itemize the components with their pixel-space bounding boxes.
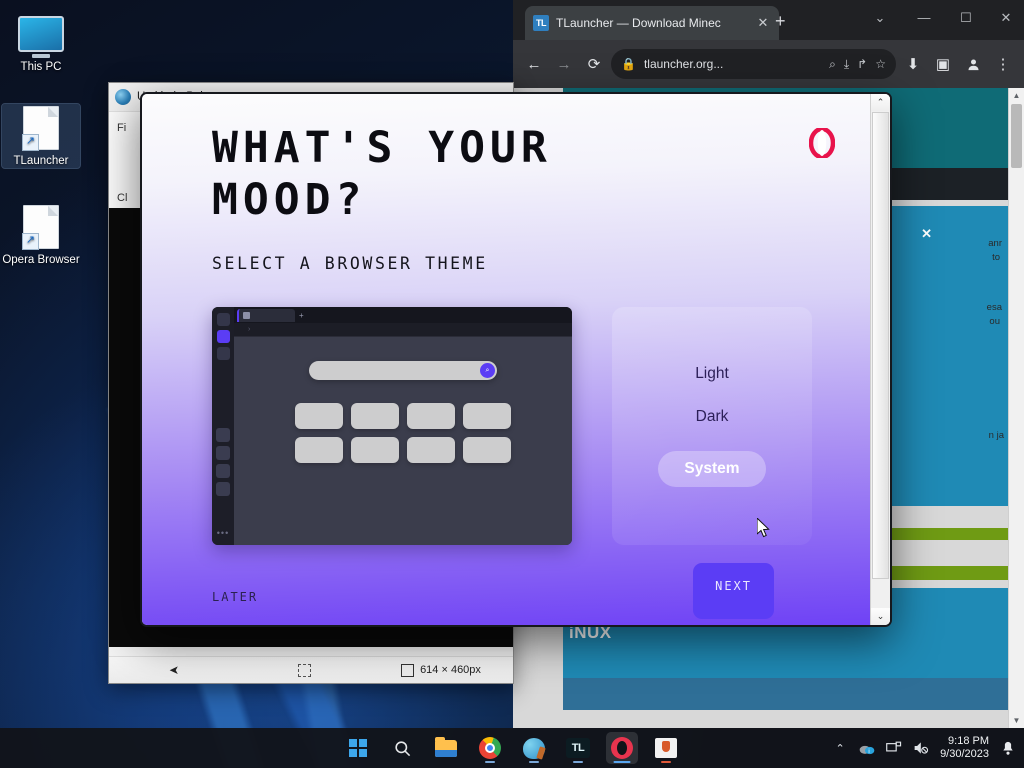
file-shortcut-icon: ↗ [2,203,80,251]
network-icon[interactable] [886,740,902,756]
paint-canvas-size-value: 614 × 460px [420,664,481,676]
minimize-button[interactable]: — [910,8,938,28]
address-bar-url: tlauncher.org... [644,57,821,71]
paint-app-icon [115,89,131,105]
preview-new-tab-icon: + [299,311,304,320]
install-icon[interactable]: ⤓ [844,57,849,72]
notification-bell-icon[interactable] [1000,740,1016,756]
preview-sidebar-icon-active [217,330,230,343]
preview-tiles [295,403,511,463]
speaker-icon [913,741,929,755]
downloads-icon[interactable]: ⬇ [900,51,926,77]
paint-menu-file[interactable]: Fi [117,122,126,134]
shortcut-arrow-icon: ↗ [22,233,39,250]
folder-icon [435,740,457,757]
taskbar-search-button[interactable] [386,732,418,764]
preview-search-icon: ⌕ [480,363,495,378]
preview-sidebar-more-icon: ••• [217,528,229,538]
onedrive-icon[interactable]: i [859,740,875,756]
desktop-icon-this-pc[interactable]: This PC [2,10,80,74]
chrome-tab-title: TLauncher — Download Minec [556,16,748,30]
dialog-scrollbar[interactable]: ⌃ ⌄ [870,94,890,625]
preview-tab [237,309,295,322]
running-indicator [661,761,671,764]
dialog-scrollbar-thumb[interactable] [872,112,889,579]
taskbar-opera[interactable] [606,732,638,764]
chrome-icon [479,737,501,759]
java-icon [655,738,677,758]
preview-tile [463,437,511,463]
taskbar-tlauncher[interactable]: TL [562,732,594,764]
selection-icon [298,664,311,677]
tlauncher-favicon-icon: TL [533,15,549,31]
page-scrollbar[interactable]: ▲ ▼ [1008,88,1024,728]
mouse-cursor [757,518,771,538]
next-button[interactable]: NEXT [693,563,774,619]
shortcut-arrow-icon: ↗ [22,134,39,151]
theme-option-system[interactable]: System [658,451,765,487]
running-indicator-active [614,761,631,764]
paint-status-bar: ➤ 614 × 460px [109,656,513,683]
desktop-icon-label: TLauncher [2,155,80,168]
windows-logo-icon [349,739,367,757]
taskbar-file-explorer[interactable] [430,732,462,764]
taskbar: TL ⌃ i 9:18 [0,728,1024,768]
forward-icon[interactable]: → [551,51,577,77]
running-indicator [573,761,583,764]
preview-tile [351,403,399,429]
theme-selector-card: Light Dark System [612,307,812,545]
ad-close-icon[interactable]: ✕ [921,226,932,242]
theme-option-dark[interactable]: Dark [696,408,729,426]
preview-search-field: ⌕ [309,361,497,380]
page-text-snippet: ou [989,316,1000,327]
svg-text:i: i [868,749,869,755]
address-bar[interactable]: 🔒 tlauncher.org... ⌕ ⤓ ↱ ☆ [611,49,896,79]
maximize-button[interactable]: ☐ [952,8,980,28]
share-icon[interactable]: ↱ [857,57,867,71]
preview-sidebar-tile [216,482,230,496]
browser-theme-preview: ••• + › ⌕ [212,307,572,545]
taskbar-start-button[interactable] [342,732,374,764]
paint-cursor-position: ➤ [109,663,239,677]
scroll-down-icon[interactable]: ⌄ [871,608,890,625]
paint-icon [523,738,545,759]
dialog-title-line2: MOOD? [212,175,366,225]
preview-address-bar: › [234,323,572,337]
paint-selection-info [239,664,369,677]
search-icon [393,739,412,758]
preview-tile [407,403,455,429]
paint-canvas-size: 614 × 460px [369,664,513,677]
opera-icon [611,737,633,759]
chrome-tab-strip: TL TLauncher — Download Minec ✕ + ⌄ — ☐ … [513,0,1024,40]
taskbar-chrome[interactable] [474,732,506,764]
bookmark-star-icon[interactable]: ☆ [875,57,886,71]
running-indicator [485,761,495,764]
dialog-subtitle: SELECT A BROWSER THEME [212,254,871,273]
scroll-up-icon[interactable]: ▲ [1009,88,1024,103]
chevron-down-icon[interactable]: ⌄ [866,8,894,28]
file-shortcut-icon: ↗ [2,104,80,152]
chrome-toolbar: ← → ⟳ 🔒 tlauncher.org... ⌕ ⤓ ↱ ☆ ⬇ ▣ ⋮ [513,40,1024,88]
preview-sidebar-icon [217,313,230,326]
later-button[interactable]: LATER [212,590,258,604]
desktop-icon-opera-browser[interactable]: ↗ Opera Browser [2,203,80,267]
dialog-footer: LATER NEXT [142,569,852,625]
preview-main: + › ⌕ [234,307,572,545]
tray-chevron-up-icon[interactable]: ⌃ [832,740,848,756]
desktop-icon-label: This PC [2,61,80,74]
new-tab-button[interactable]: + [775,12,786,30]
desktop-icon-label: Opera Browser [2,254,80,267]
preview-tile [351,437,399,463]
tlauncher-icon: TL [566,738,590,758]
paint-menu-clipboard[interactable]: Cl [117,192,127,204]
preview-sidebar: ••• [212,307,234,545]
preview-sidebar-icon [217,347,230,360]
lock-icon: 🔒 [621,57,636,71]
monitor-network-icon [886,741,902,755]
page-text-snippet: anr [988,238,1002,249]
scroll-up-icon[interactable]: ⌃ [871,94,890,111]
theme-option-light[interactable]: Light [695,365,729,383]
taskbar-java[interactable] [650,732,682,764]
pointer-icon: ➤ [169,663,179,677]
canvas-size-icon [401,664,414,677]
taskbar-paint[interactable] [518,732,550,764]
preview-sidebar-tile [216,428,230,442]
preview-tile [407,437,455,463]
grid-icon [243,312,250,319]
preview-tile [295,437,343,463]
preview-tile [295,403,343,429]
cloud-icon: i [859,742,875,755]
dialog-title: WHAT'S YOUR MOOD? [212,122,732,226]
dialog-body: WHAT'S YOUR MOOD? SELECT A BROWSER THEME… [142,94,871,625]
chrome-menu-icon[interactable]: ⋮ [990,51,1016,77]
page-footer-block [563,678,1010,710]
preview-sidebar-tile [216,446,230,460]
desktop-icon-tlauncher[interactable]: ↗ TLauncher [2,104,80,168]
search-icon[interactable]: ⌕ [829,57,836,72]
chrome-tab-tlauncher[interactable]: TL TLauncher — Download Minec ✕ [525,6,779,40]
back-icon[interactable]: ← [521,51,547,77]
close-window-button[interactable]: ✕ [992,8,1020,28]
dialog-main-row: ••• + › ⌕ [212,307,871,545]
scroll-down-icon[interactable]: ▼ [1009,713,1024,728]
running-indicator [529,761,539,764]
volume-muted-icon[interactable] [913,740,929,756]
page-text-snippet: esa [987,302,1002,313]
preview-sidebar-tile [216,464,230,478]
close-icon[interactable]: ✕ [755,15,771,31]
preview-speed-dial: ⌕ [234,337,572,545]
preview-tile [463,403,511,429]
page-text-snippet: to [992,252,1000,263]
page-text-snippet: n ja [989,430,1004,441]
system-tray: ⌃ i 9:18 PM 9/30/2023 [832,735,1016,761]
profile-avatar-icon[interactable] [960,51,986,77]
taskbar-clock[interactable]: 9:18 PM 9/30/2023 [940,735,989,761]
reload-icon[interactable]: ⟳ [581,51,607,77]
page-scrollbar-thumb[interactable] [1011,104,1022,168]
chevron-right-icon: › [248,326,250,333]
side-panel-icon[interactable]: ▣ [930,51,956,77]
bell-icon [1001,741,1015,756]
opera-logo-icon [809,128,835,158]
preview-tab-bar: + [234,307,572,323]
monitor-icon [2,10,80,58]
clock-time: 9:18 PM [940,735,989,748]
clock-date: 9/30/2023 [940,748,989,761]
dialog-title-line1: WHAT'S YOUR [212,123,552,173]
opera-theme-dialog: WHAT'S YOUR MOOD? SELECT A BROWSER THEME… [140,92,892,627]
